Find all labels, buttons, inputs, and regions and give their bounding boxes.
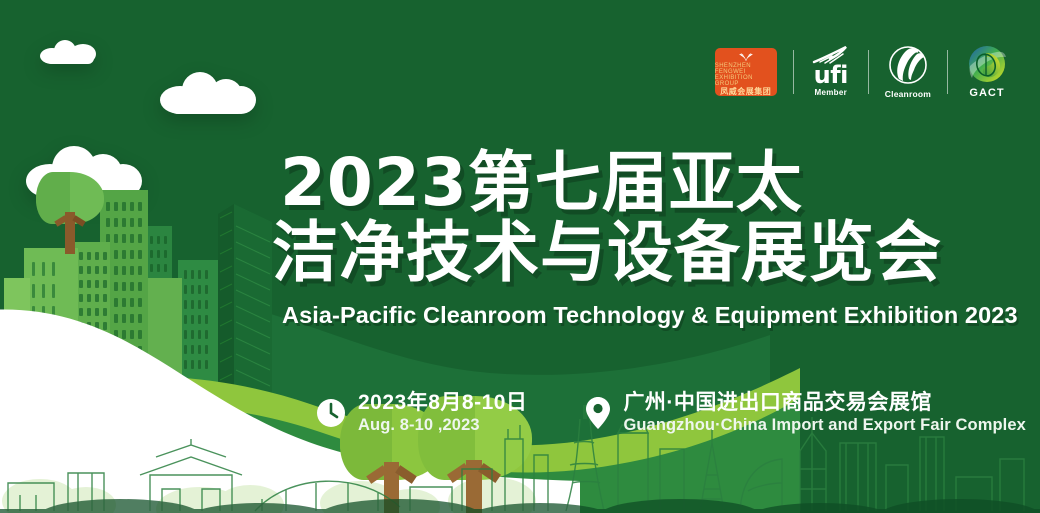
ufi-member-label: Member xyxy=(815,88,847,97)
venue-en: Guangzhou·China Import and Export Fair C… xyxy=(623,415,1025,436)
logo-row: SHENZHEN FENGWEI EXHIBITION GROUP 凤威会展集团… xyxy=(715,44,1010,99)
title-en: Asia-Pacific Cleanroom Technology & Equi… xyxy=(282,302,1012,329)
logo-divider-3 xyxy=(947,50,948,94)
venue-cn: 广州·中国进出口商品交易会展馆 xyxy=(623,390,1025,415)
tree-background xyxy=(36,172,104,254)
fengwei-cn-line: 凤威会展集团 xyxy=(720,88,771,96)
date-en: Aug. 8-10 ,2023 xyxy=(358,415,527,436)
gact-logo[interactable]: GACT xyxy=(964,44,1010,99)
cloud-medium xyxy=(160,72,256,114)
cleanroom-label: Cleanroom xyxy=(885,89,931,99)
venue-item: 广州·中国进出口商品交易会展馆 Guangzhou·China Import a… xyxy=(585,390,1025,436)
logo-divider-2 xyxy=(868,50,869,94)
fengwei-exhibition-group-logo[interactable]: SHENZHEN FENGWEI EXHIBITION GROUP 凤威会展集团 xyxy=(715,48,777,96)
cleanroom-globe-icon xyxy=(885,45,931,87)
ufi-wordmark: ufi xyxy=(814,64,848,87)
gact-globe-icon xyxy=(964,44,1010,86)
clock-icon xyxy=(316,398,346,428)
w-eagle-mark-icon xyxy=(724,53,768,62)
title-cn-line2: 洁净技术与设备展览会 xyxy=(272,218,1012,288)
location-pin-icon xyxy=(585,396,611,430)
info-row: 2023年8月8-10日 Aug. 8-10 ,2023 广州·中国进出口商品交… xyxy=(316,390,1026,436)
title-cn-line1: 2023第七届亚太 xyxy=(280,148,1012,218)
title-block: 2023第七届亚太 洁净技术与设备展览会 Asia-Pacific Cleanr… xyxy=(272,148,1012,329)
ufi-member-logo[interactable]: ufi Member xyxy=(810,46,852,97)
cloud-small xyxy=(40,40,98,64)
date-item: 2023年8月8-10日 Aug. 8-10 ,2023 xyxy=(316,390,527,436)
exhibition-poster: SHENZHEN FENGWEI EXHIBITION GROUP 凤威会展集团… xyxy=(0,0,1040,513)
date-cn: 2023年8月8-10日 xyxy=(358,390,527,415)
gact-label: GACT xyxy=(969,87,1004,99)
cleanroom-logo[interactable]: Cleanroom xyxy=(885,45,931,99)
fengwei-en-line: SHENZHEN FENGWEI EXHIBITION GROUP xyxy=(715,63,777,87)
logo-divider-1 xyxy=(793,50,794,94)
